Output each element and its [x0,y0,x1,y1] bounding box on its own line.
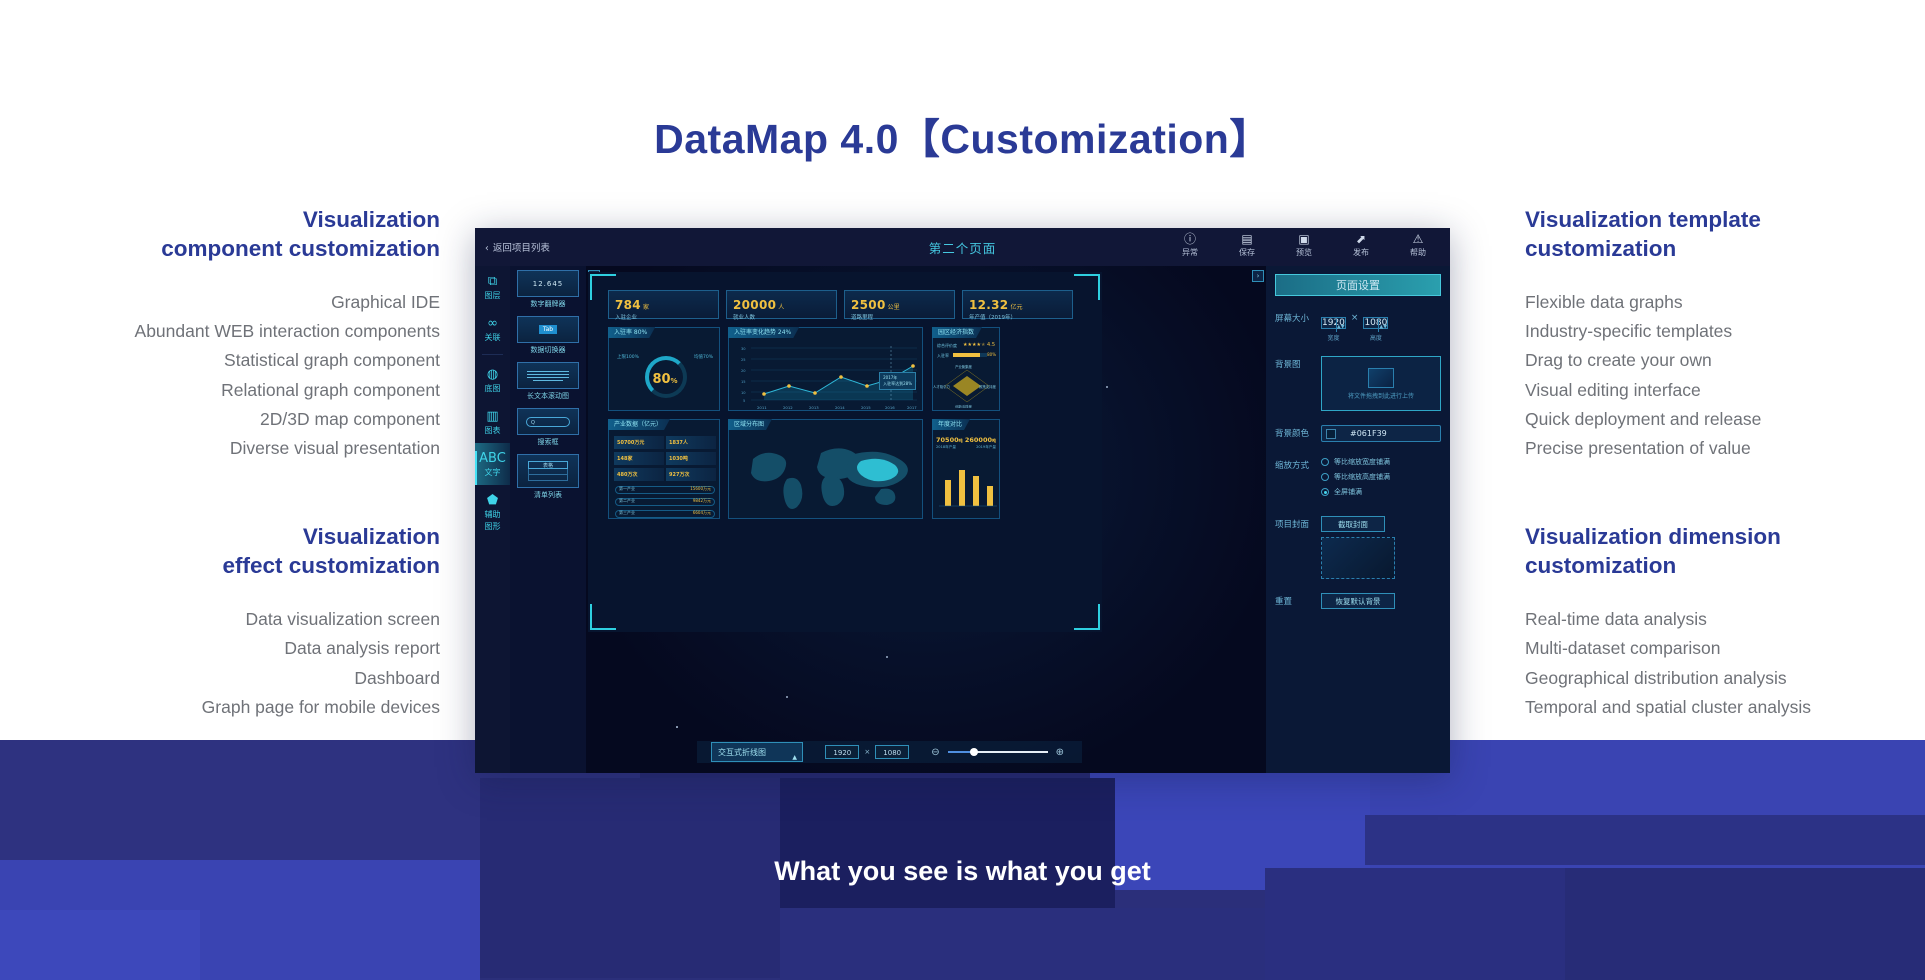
component-thumbnail: Q [517,408,579,435]
star-decoration [676,726,678,728]
stat-chip: 480万次 [614,468,664,481]
list-item: Drag to create your own [1525,346,1925,375]
banner-block [1115,778,1365,866]
app-window-screenshot: ‹返回项目列表 第二个页面 ⓘ 异常 ▤ 保存 ▣ 预览 ⬈ 发布 ⚠ 帮助 [475,228,1450,773]
stat-chip: 148家 [614,452,664,465]
canvas-height-input[interactable]: 1080 [875,745,909,759]
component-label: 长文本滚动图 [517,389,579,403]
kpi-unit: 公里 [888,304,900,311]
stat-chip: 1030吨 [666,452,716,465]
gauge-tick-left: 上限100% [617,354,639,360]
field-label: 项目封面 [1275,516,1321,534]
rail-label: 文字 [475,467,510,479]
feature-list: Data visualization screen Data analysis … [20,605,440,722]
svg-text:2017: 2017 [907,405,917,410]
background-color-row: 背景颜色 #061F39 [1275,425,1441,443]
toolbar-button-save[interactable]: ▤ 保存 [1227,232,1267,258]
field-label: 重置 [1275,593,1321,611]
zoom-option-fit-height[interactable]: 等比缩放高度铺满 [1321,472,1441,482]
rail-item-basemap[interactable]: ◍ 底图 [475,359,510,401]
rail-item-shapes[interactable]: ⬟ 辅助 图形 [475,485,510,539]
size-separator: × [864,748,870,756]
progress-bar-row: 第二产业 9842万元 [615,498,715,506]
stat-value: 148 [617,456,627,462]
stat-unit: 万次 [627,472,637,478]
progress-bar-row: 第三产业 6604万元 [615,510,715,518]
radar-svg: 产业聚集度 人才吸引力 政策支持度 创新活跃度 [933,362,1001,408]
publish-icon: ⬈ [1341,232,1381,247]
chart-tooltip: 2017年 入驻率达到28% [879,372,916,390]
kpi-value: 784 [615,298,641,312]
component-item-scroll-text[interactable]: 长文本滚动图 [517,362,579,403]
relation-icon: ∞ [475,316,510,332]
rail-item-text[interactable]: ABC 文字 [475,443,510,485]
star-decoration [886,656,888,658]
canvas-size-controls: 1920 × 1080 [825,745,909,759]
svg-text:10: 10 [741,391,746,395]
line-chart-widget[interactable]: 入驻率变化趋势 24% [728,327,923,411]
stat-value: 927 [669,472,679,478]
stats-panel-widget[interactable]: 产业数据（亿元） 50700万元 1837人 148家 1030吨 480万次 … [608,419,720,519]
kpi-unit: 人 [778,304,784,311]
kpi-card[interactable]: 784家 入驻企业 [608,290,719,319]
widget-title: 年度对比 [932,419,970,430]
image-thumbnail [1368,368,1394,388]
svg-text:2016: 2016 [885,405,895,410]
toolbar-label: 异常 [1170,247,1210,258]
zoom-controls: ⊖ ⊕ [931,747,1064,758]
stat-unit: 吨 [683,456,688,462]
svg-text:30: 30 [741,347,746,351]
component-preview: 表格 [528,461,568,469]
corner-bracket [590,604,616,630]
info-icon: ⓘ [1170,232,1210,247]
rail-label: 图表 [475,425,510,437]
background-color-picker[interactable]: #061F39 [1321,425,1441,442]
widget-title: 园区经济指数 [932,327,982,338]
list-item: Temporal and spatial cluster analysis [1525,693,1925,722]
list-item: Quick deployment and release [1525,405,1925,434]
screen-size-row: 屏幕大小 1920▲▼ 宽度 × 1080▲▼ 高度 [1275,310,1441,342]
bar-panel-widget[interactable]: 年度对比 70500吨 2018年产量 260000吨 2019年产量 [932,419,1000,519]
reset-row: 重置 恢复默认背景 [1275,593,1441,611]
stat-chip: 50700万元 [614,436,664,449]
component-label: 搜索框 [517,435,579,449]
select-value: 交互式折线图 [718,748,766,757]
feature-group-visualization-effect: Visualization effect customization Data … [20,522,440,722]
field-label: 背景图 [1275,356,1321,374]
group-heading: Visualization effect customization [20,522,440,580]
world-map-svg [729,433,924,519]
zoom-out-icon[interactable]: ⊖ [931,747,939,758]
feature-list: Flexible data graphs Industry-specific t… [1525,288,1925,463]
rail-item-charts[interactable]: ▥ 图表 [475,401,510,443]
component-thumbnail: 表格 [517,454,579,488]
stat-value: 1030 [669,456,683,462]
rail-label: 图层 [475,290,510,302]
kpi-label: 道路里程 [851,313,948,321]
dashboard-preview[interactable]: 784家 入驻企业 20000人 就业人数 2500公里 道路里程 12.32亿… [588,272,1102,632]
color-swatch [1326,429,1336,439]
list-item: Flexible data graphs [1525,288,1925,317]
shapes-icon: ⬟ [475,493,510,509]
svg-text:人才吸引力: 人才吸引力 [933,384,951,389]
gauge-percent: % [671,377,678,385]
svg-text:政策支持度: 政策支持度 [979,384,997,389]
background-image-row: 背景图 将文件拖拽到此进行上传 [1275,356,1441,411]
left-text-column: Visualization component customization Gr… [20,205,440,722]
field-caption: 高度 [1363,333,1388,342]
list-item: Precise presentation of value [1525,434,1925,463]
list-item: 2D/3D map component [20,405,440,434]
banner-block [780,908,1265,980]
component-item-list-table[interactable]: 表格 清单列表 [517,454,579,502]
component-label: 清单列表 [517,488,579,502]
toolbar-label: 保存 [1227,247,1267,258]
stat-unit: 万元 [634,440,644,446]
stepper-icon[interactable]: ▲▼ [1336,319,1344,332]
widget-title: 产业数据（亿元） [608,419,670,430]
gauge-value: 80% [609,372,721,387]
kpi-card[interactable]: 2500公里 道路里程 [844,290,955,319]
tagline: What you see is what you get [0,856,1925,887]
kpi-unit: 家 [643,304,649,311]
radio-label: 全屏铺满 [1334,487,1362,497]
toolbar-label: 帮助 [1398,247,1438,258]
kpi-value: 12.32 [969,298,1008,312]
stat-unit: 人 [683,440,688,446]
zoom-slider-fill [948,751,972,753]
svg-text:2015: 2015 [861,405,871,410]
corner-bracket [1074,274,1100,300]
screen-width-field: 1920▲▼ 宽度 [1321,310,1346,342]
bar-value: 9842万元 [693,498,711,504]
radar-bar-value: 80% [987,352,996,357]
zoom-slider-handle[interactable] [970,748,978,756]
canvas-statusbar: 交互式折线图 ▲ 1920 × 1080 ⊖ ⊕ [697,741,1082,763]
stepper-icon[interactable]: ▲▼ [1378,319,1386,332]
list-item: Relational graph component [20,376,440,405]
svg-text:15: 15 [741,380,746,384]
list-item: Real-time data analysis [1525,605,1925,634]
widget-title: 入驻率变化趋势 24% [728,327,799,338]
zoom-option-fullscreen[interactable]: 全屏铺满 [1321,487,1441,497]
toolbar-button-preview[interactable]: ▣ 预览 [1284,232,1324,258]
component-label: 数据切换器 [517,343,579,357]
kpi-card[interactable]: 20000人 就业人数 [726,290,837,319]
help-icon: ⚠ [1398,232,1438,247]
stat-value: 480 [617,472,627,478]
toolbar-button-help[interactable]: ⚠ 帮助 [1398,232,1438,258]
component-item-flip-counter[interactable]: 12.645 数字翻牌器 [517,270,579,311]
toolbar-button-publish[interactable]: ⬈ 发布 [1341,232,1381,258]
gauge-widget[interactable]: 入驻率 80% 80% 上限100% 均值70% [608,327,720,411]
radar-rating-label: 综合评价度 [937,343,957,349]
map-widget[interactable]: 区域分布图 [728,419,923,519]
widget-title: 区域分布图 [728,419,772,430]
list-item: Multi-dataset comparison [1525,634,1925,663]
list-item: Industry-specific templates [1525,317,1925,346]
group-heading: Visualization template customization [1525,205,1925,263]
svg-text:5: 5 [743,399,745,403]
right-text-column: Visualization template customization Fle… [1525,205,1925,722]
list-item: Abundant WEB interaction components [20,317,440,346]
bar-value: 15600万元 [690,486,711,492]
radio-label: 等比缩放高度铺满 [1334,472,1390,482]
component-preview: Tab [539,325,557,334]
stat-chip: 1837人 [666,436,716,449]
stat-unit: 家 [627,456,632,462]
kpi-card[interactable]: 12.32亿元 年产值（2019年） [962,290,1073,319]
svg-text:创新活跃度: 创新活跃度 [955,404,973,408]
save-icon: ▤ [1227,232,1267,247]
rail-label: 辅助 图形 [475,509,510,533]
component-thumbnail: 12.645 [517,270,579,297]
screen-height-input[interactable]: 1080▲▼ [1363,317,1388,329]
stat-value: 50700 [617,440,634,446]
svg-text:2011: 2011 [757,405,767,410]
properties-panel: 页面设置 屏幕大小 1920▲▼ 宽度 × 1080▲▼ 高度 背景图 [1266,266,1450,773]
zoom-slider[interactable] [948,751,1048,753]
gauge-number: 80 [652,372,670,387]
preview-icon: ▣ [1284,232,1324,247]
rail-label: 底图 [475,383,510,395]
component-item-data-switcher[interactable]: Tab 数据切换器 [517,316,579,357]
toolbar-button-exception[interactable]: ⓘ 异常 [1170,232,1210,258]
group-heading: Visualization component customization [20,205,440,263]
bar-panel-left-value: 70500吨 [936,436,963,444]
feature-list: Graphical IDE Abundant WEB interaction c… [20,288,440,463]
list-item: Graphical IDE [20,288,440,317]
bar-chart-svg [933,456,1001,514]
widget-title: 入驻率 80% [608,327,655,338]
bar-label: 第三产业 [619,510,635,516]
radio-icon [1321,473,1329,481]
stat-chip: 927万次 [666,468,716,481]
field-label: 屏幕大小 [1275,310,1321,328]
toolbar-label: 预览 [1284,247,1324,258]
text-abc-icon: ABC [475,451,510,467]
collapse-right-panel-button[interactable]: › [1252,270,1264,282]
list-item: Visual editing interface [1525,376,1925,405]
stat-unit: 万次 [679,472,689,478]
progress-bar-row: 第一产业 15600万元 [615,486,715,494]
size-separator: × [1351,310,1359,327]
gauge-tick-right: 均值70% [694,354,713,360]
svg-text:20: 20 [741,369,746,373]
design-canvas[interactable]: ‹ › 784家 入驻企业 20000人 就业人数 2500公里 道路里程 [586,266,1266,773]
app-toolbar: ⓘ 异常 ▤ 保存 ▣ 预览 ⬈ 发布 ⚠ 帮助 [1170,232,1438,258]
list-item: Statistical graph component [20,346,440,375]
field-caption: 宽度 [1321,333,1346,342]
kpi-label: 就业人数 [733,313,830,321]
bar-label: 第二产业 [619,498,635,504]
field-label: 背景颜色 [1275,425,1321,443]
feature-list: Real-time data analysis Multi-dataset co… [1525,605,1925,722]
list-item: Dashboard [20,664,440,693]
stat-value: 1837 [669,440,683,446]
cover-thumbnail[interactable] [1321,537,1395,579]
basemap-icon: ◍ [475,367,510,383]
left-icon-rail: ⧉ 图层 ∞ 关联 ◍ 底图 ▥ 图表 ABC 文字 ⬟ 辅助 图形 [475,266,510,773]
zoom-option-fit-width[interactable]: 等比缩放宽度铺满 [1321,457,1441,467]
kpi-label: 年产值（2019年） [969,313,1066,321]
component-select-dropdown[interactable]: 交互式折线图 ▲ [711,742,803,762]
svg-text:2013: 2013 [809,405,819,410]
color-hex-value: #061F39 [1350,429,1387,438]
rail-item-layers[interactable]: ⧉ 图层 [475,266,510,308]
component-item-search-box[interactable]: Q 搜索框 [517,408,579,449]
dropzone-hint: 将文件拖拽到此进行上传 [1348,391,1414,400]
component-preview: Q [526,417,570,427]
capture-cover-button[interactable]: 截取封面 [1321,516,1385,532]
bar-panel-right-value: 260000吨 [965,436,996,444]
screen-width-input[interactable]: 1920▲▼ [1321,317,1346,329]
kpi-value: 2500 [851,298,886,312]
radio-label: 等比缩放宽度铺满 [1334,457,1390,467]
banner-block [0,910,200,980]
radio-icon [1321,458,1329,466]
star-decoration [1106,386,1108,388]
component-thumbnail: Tab [517,316,579,343]
component-library-panel: 12.645 数字翻牌器 Tab 数据切换器 长文本滚动图 Q 搜索框 [510,266,586,773]
list-item: Data visualization screen [20,605,440,634]
radar-bar-track [953,353,987,357]
screen-height-field: 1080▲▼ 高度 [1363,310,1388,342]
bar-label: 第一产业 [619,486,635,492]
group-heading: Visualization dimension customization [1525,522,1925,580]
star-decoration [786,696,788,698]
rail-label: 关联 [475,332,510,344]
rail-divider [482,354,503,355]
radio-icon-selected [1321,488,1329,496]
component-label: 数字翻牌器 [517,297,579,311]
svg-text:25: 25 [741,358,746,362]
tooltip-line: 入驻率达到28% [883,381,912,387]
kpi-unit: 亿元 [1010,304,1022,311]
caret-up-icon: ▲ [792,748,797,768]
feature-group-visualization-component: Visualization component customization Gr… [20,205,440,463]
svg-text:2014: 2014 [835,405,845,410]
bar-panel-left-label: 2018年产量 [936,445,956,450]
kpi-label: 入驻企业 [615,313,712,321]
field-label: 缩放方式 [1275,457,1321,475]
feature-group-visualization-dimension: Visualization dimension customization Re… [1525,522,1925,722]
restore-default-background-button[interactable]: 恢复默认背景 [1321,593,1395,609]
rating-number: 4.5 [987,342,995,348]
svg-text:产业聚集度: 产业聚集度 [955,364,973,369]
radar-chart-widget[interactable]: 园区经济指数 综合评价度 ★★★★★ 4.5 入驻率 80% 产业聚集度 人才吸… [932,327,1000,411]
canvas-width-input[interactable]: 1920 [825,745,859,759]
svg-text:2012: 2012 [783,405,793,410]
radar-rating-stars: ★★★★★ 4.5 [963,342,995,348]
rail-item-relation[interactable]: ∞ 关联 [475,308,510,350]
properties-panel-title: 页面设置 [1275,274,1441,296]
component-preview: 12.645 [533,280,564,288]
zoom-mode-row: 缩放方式 等比缩放宽度铺满 等比缩放高度铺满 全屏铺满 [1275,457,1441,502]
background-image-dropzone[interactable]: 将文件拖拽到此进行上传 [1321,356,1441,411]
layers-icon: ⧉ [475,274,510,290]
list-item: Graph page for mobile devices [20,693,440,722]
radar-bar-label: 入驻率 [937,353,949,359]
zoom-in-icon[interactable]: ⊕ [1056,747,1064,758]
component-thumbnail [517,362,579,389]
list-item: Diverse visual presentation [20,434,440,463]
kpi-card-row: 784家 入驻企业 20000人 就业人数 2500公里 道路里程 12.32亿… [608,290,1073,319]
corner-bracket [1074,604,1100,630]
page-title: DataMap 4.0【Customization】 [0,105,1925,165]
app-titlebar: ‹返回项目列表 第二个页面 ⓘ 异常 ▤ 保存 ▣ 预览 ⬈ 发布 ⚠ 帮助 [475,228,1450,266]
toolbar-label: 发布 [1341,247,1381,258]
bar-value: 6604万元 [693,510,711,516]
feature-group-visualization-template: Visualization template customization Fle… [1525,205,1925,463]
kpi-value: 20000 [733,298,776,312]
list-item: Geographical distribution analysis [1525,664,1925,693]
bar-chart-icon: ▥ [475,409,510,425]
bar-panel-right-label: 2019年产量 [976,445,996,450]
project-cover-row: 项目封面 截取封面 [1275,516,1441,579]
list-item: Data analysis report [20,634,440,663]
